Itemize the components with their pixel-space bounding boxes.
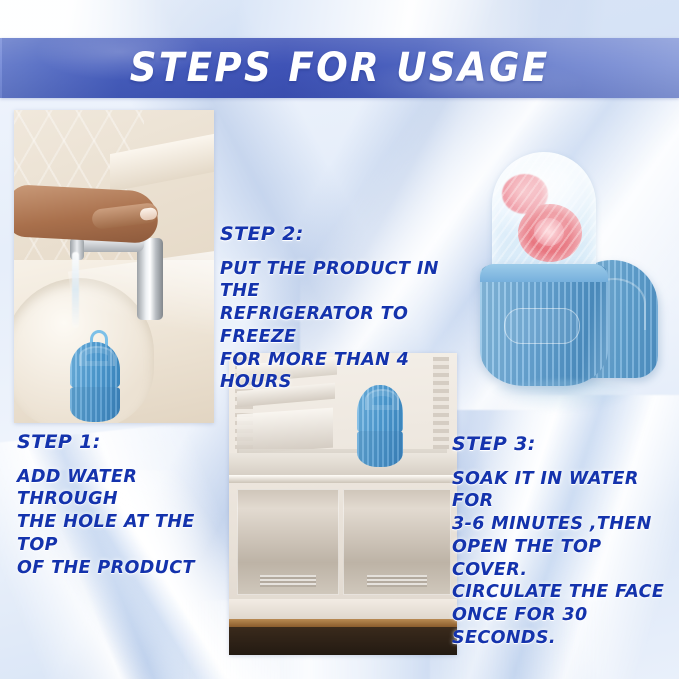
hero-reflection bbox=[484, 380, 644, 414]
water-stream bbox=[72, 252, 79, 328]
fridge-photo bbox=[229, 353, 457, 655]
step-3-line-4: CIRCULATE THE FACE bbox=[452, 581, 677, 604]
step-2-heading: STEP 2: bbox=[220, 222, 470, 247]
step-2-caption: STEP 2: PUT THE PRODUCT IN THE REFRIGERA… bbox=[220, 222, 470, 394]
step-3-line-2: 3-6 MINUTES ,THEN bbox=[452, 513, 677, 536]
step-2-body: PUT THE PRODUCT IN THE REFRIGERATOR TO F… bbox=[220, 258, 470, 395]
fridge-dark-base bbox=[229, 627, 457, 655]
step-3-body: SOAK IT IN WATER FOR 3-6 MINUTES ,THEN O… bbox=[452, 468, 677, 650]
step-1-body: ADD WATER THROUGH THE HOLE AT THE TOP OF… bbox=[17, 466, 232, 580]
fridge-floor-trim bbox=[229, 619, 457, 627]
frozen-ice-dome bbox=[492, 152, 596, 276]
step-1-line-2: THE HOLE AT THE TOP bbox=[17, 511, 232, 557]
holder-label-recess bbox=[504, 308, 580, 344]
step-2-line-3: FOR MORE THAN 4 HOURS bbox=[220, 349, 470, 395]
fridge-glass-shelf bbox=[229, 453, 457, 483]
step-2-line-2: REFRIGERATOR TO FREEZE bbox=[220, 303, 470, 349]
step-3-heading: STEP 3: bbox=[452, 432, 677, 457]
header-banner: STEPS FOR USAGE bbox=[0, 38, 679, 98]
step-3-line-5: ONCE FOR 30 SECONDS. bbox=[452, 604, 677, 650]
step-1-caption: STEP 1: ADD WATER THROUGH THE HOLE AT TH… bbox=[17, 430, 232, 579]
page-title: STEPS FOR USAGE bbox=[130, 45, 550, 91]
step-1-line-3: OF THE PRODUCT bbox=[17, 557, 232, 580]
step-2-line-1: PUT THE PRODUCT IN THE bbox=[220, 258, 470, 304]
ice-cup-base bbox=[70, 387, 120, 422]
step-1-heading: STEP 1: bbox=[17, 430, 232, 455]
step-3-line-3: OPEN THE TOP COVER. bbox=[452, 536, 677, 582]
fridge-shelf-lower bbox=[237, 408, 333, 455]
ice-cup-product bbox=[70, 342, 120, 422]
step-3-caption: STEP 3: SOAK IT IN WATER FOR 3-6 MINUTES… bbox=[452, 432, 677, 650]
ice-cup-base bbox=[357, 431, 403, 467]
drawer-vent-left bbox=[260, 575, 316, 587]
step-3-line-1: SOAK IT IN WATER FOR bbox=[452, 468, 677, 514]
drawer-vent-right bbox=[367, 575, 426, 587]
faucet-photo bbox=[14, 110, 214, 423]
crisper-drawer-left bbox=[237, 489, 339, 595]
ice-cup-lid bbox=[70, 342, 120, 388]
ice-cup-rib-arcs bbox=[79, 346, 115, 367]
silicone-holder bbox=[480, 264, 608, 386]
ice-frost-overlay bbox=[492, 152, 596, 276]
crisper-drawer-right bbox=[343, 489, 451, 595]
infographic-canvas: STEPS FOR USAGE bbox=[0, 0, 679, 679]
hero-product-photo bbox=[470, 152, 660, 387]
fridge-base-plate bbox=[229, 599, 457, 621]
step-1-line-1: ADD WATER THROUGH bbox=[17, 466, 232, 512]
ice-cup-product bbox=[357, 385, 403, 467]
holder-collar bbox=[480, 264, 608, 282]
